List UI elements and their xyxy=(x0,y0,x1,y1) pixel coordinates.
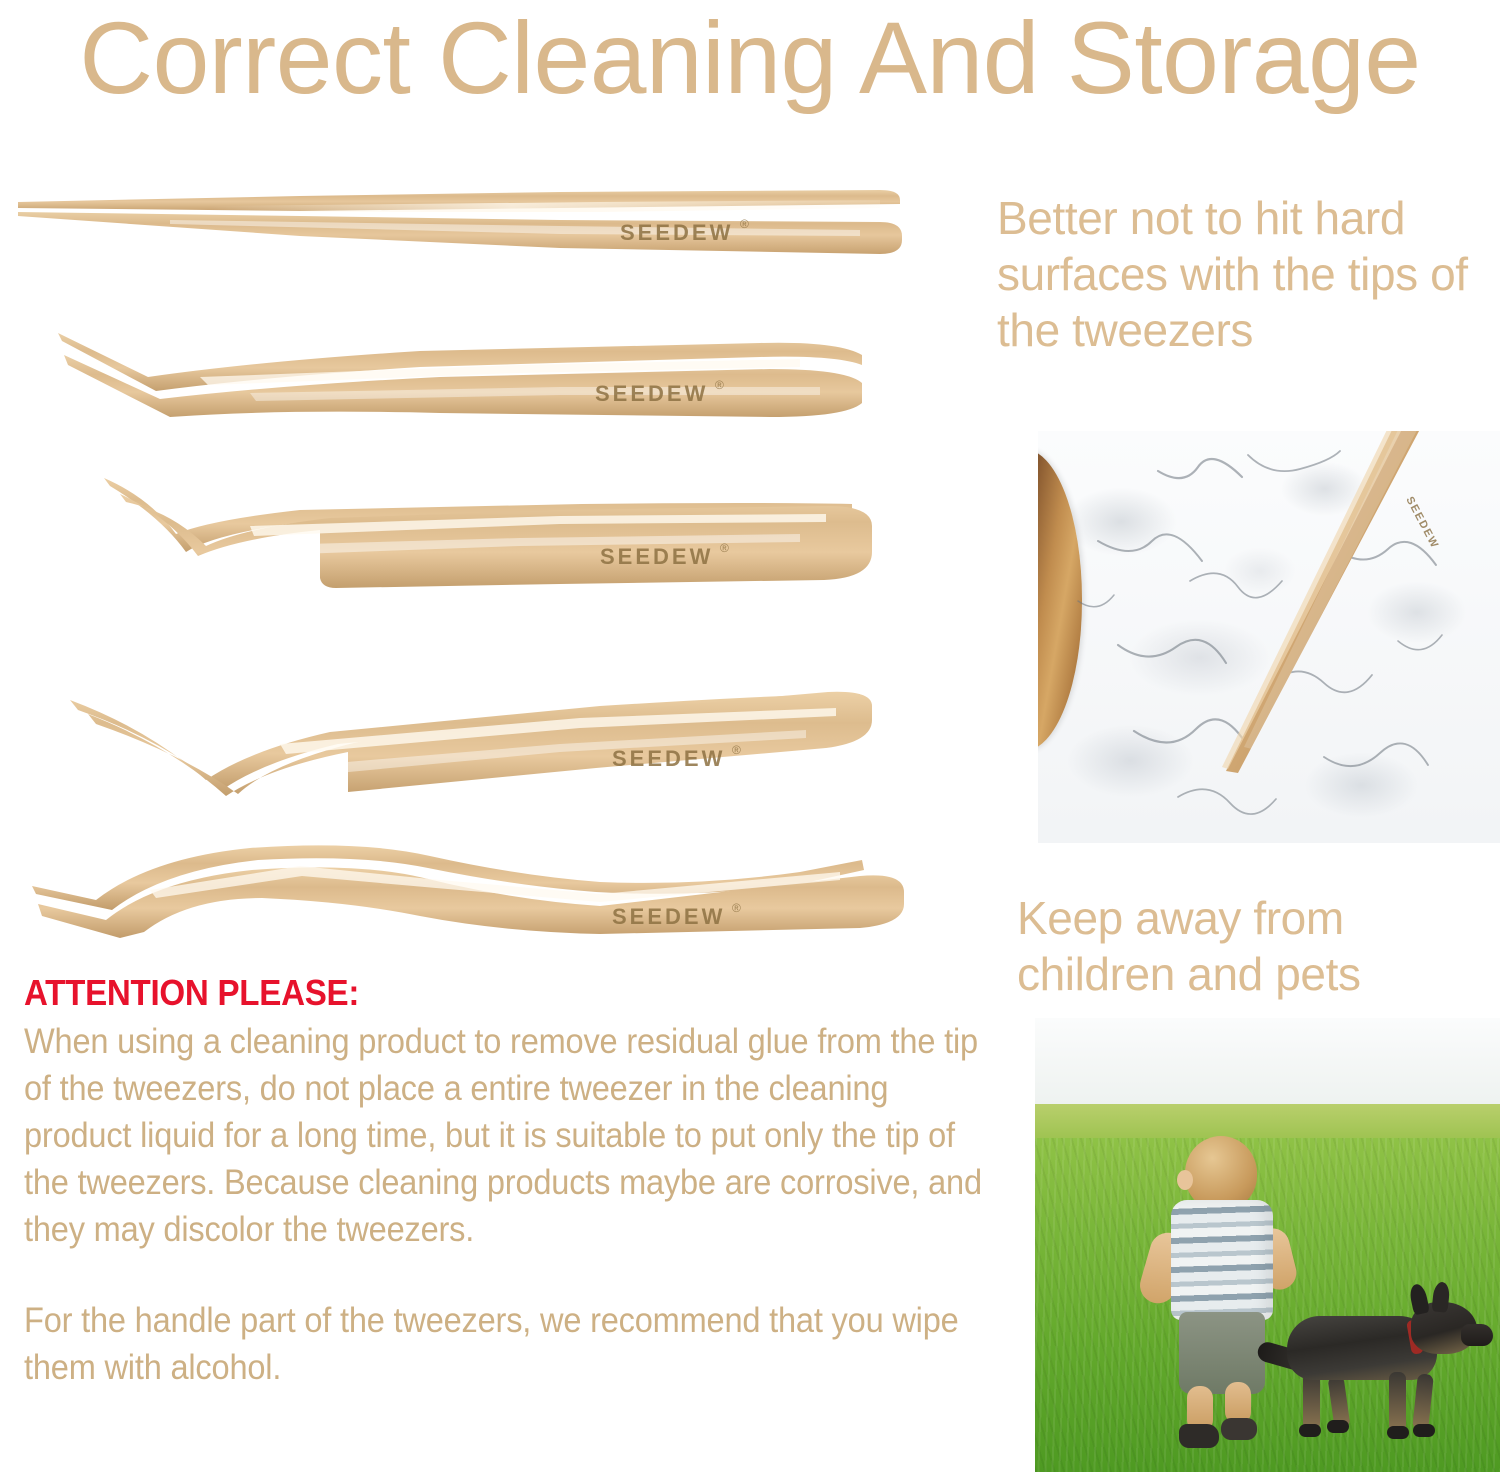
tweezer-item-l-curve: SEEDEW ® xyxy=(0,670,965,810)
sky-background xyxy=(1035,1018,1500,1106)
right-column: Better not to hit hard surfaces with the… xyxy=(985,0,1500,1472)
tweezer-brand-mark: SEEDEW xyxy=(600,544,713,569)
dog-leg xyxy=(1412,1373,1434,1430)
tweezer-on-marble-photo: SEEDEW xyxy=(1038,431,1500,843)
child-head xyxy=(1185,1136,1257,1210)
tweezer-item-deep-boot: SEEDEW ® xyxy=(0,828,965,958)
svg-text:®: ® xyxy=(720,541,729,555)
child-left-shoe xyxy=(1179,1424,1219,1448)
svg-text:®: ® xyxy=(740,217,749,231)
child-ear xyxy=(1177,1170,1193,1190)
tweezer-brand-mark: SEEDEW xyxy=(620,220,733,245)
dog-paw xyxy=(1327,1420,1349,1433)
dog-leg xyxy=(1303,1372,1320,1430)
child-right-shoe xyxy=(1221,1418,1257,1440)
dog-paw xyxy=(1413,1424,1435,1437)
attention-paragraph-2: For the handle part of the tweezers, we … xyxy=(24,1297,1001,1391)
tweezer-brand-mark: SEEDEW xyxy=(595,381,708,406)
tweezer-brand-mark: SEEDEW xyxy=(612,904,725,929)
tweezer-gallery: SEEDEW ® SEEDEW ® xyxy=(0,160,965,960)
dog-snout xyxy=(1461,1324,1493,1346)
svg-text:®: ® xyxy=(732,743,741,757)
dog-ear xyxy=(1408,1283,1430,1316)
tweezer-item-s-curve: SEEDEW ® xyxy=(0,460,965,610)
tweezer-item-boot-curved: SEEDEW ® xyxy=(0,325,965,435)
attention-heading: ATTENTION PLEASE: xyxy=(24,972,926,1014)
attention-block: ATTENTION PLEASE: When using a cleaning … xyxy=(24,972,1004,1391)
dog-leg xyxy=(1389,1372,1406,1432)
tweezer-item-straight-point: SEEDEW ® xyxy=(0,178,965,268)
tweezer-brand-mark: SEEDEW xyxy=(612,746,725,771)
child-and-dog-photo xyxy=(1035,1018,1500,1472)
svg-text:®: ® xyxy=(715,378,724,392)
callout-children-pets-warning: Keep away from children and pets xyxy=(1017,890,1500,1002)
attention-paragraph-1: When using a cleaning product to remove … xyxy=(24,1018,1001,1253)
svg-text:®: ® xyxy=(732,901,741,915)
child-shorts xyxy=(1179,1312,1265,1394)
dog-figure xyxy=(1261,1286,1493,1454)
callout-hard-surface-warning: Better not to hit hard surfaces with the… xyxy=(997,190,1497,358)
dog-paw xyxy=(1387,1426,1409,1439)
child-striped-shirt xyxy=(1171,1200,1273,1320)
gold-tweezer-in-photo: SEEDEW xyxy=(1222,431,1441,773)
dog-paw xyxy=(1299,1424,1321,1437)
dog-ear xyxy=(1431,1281,1450,1313)
